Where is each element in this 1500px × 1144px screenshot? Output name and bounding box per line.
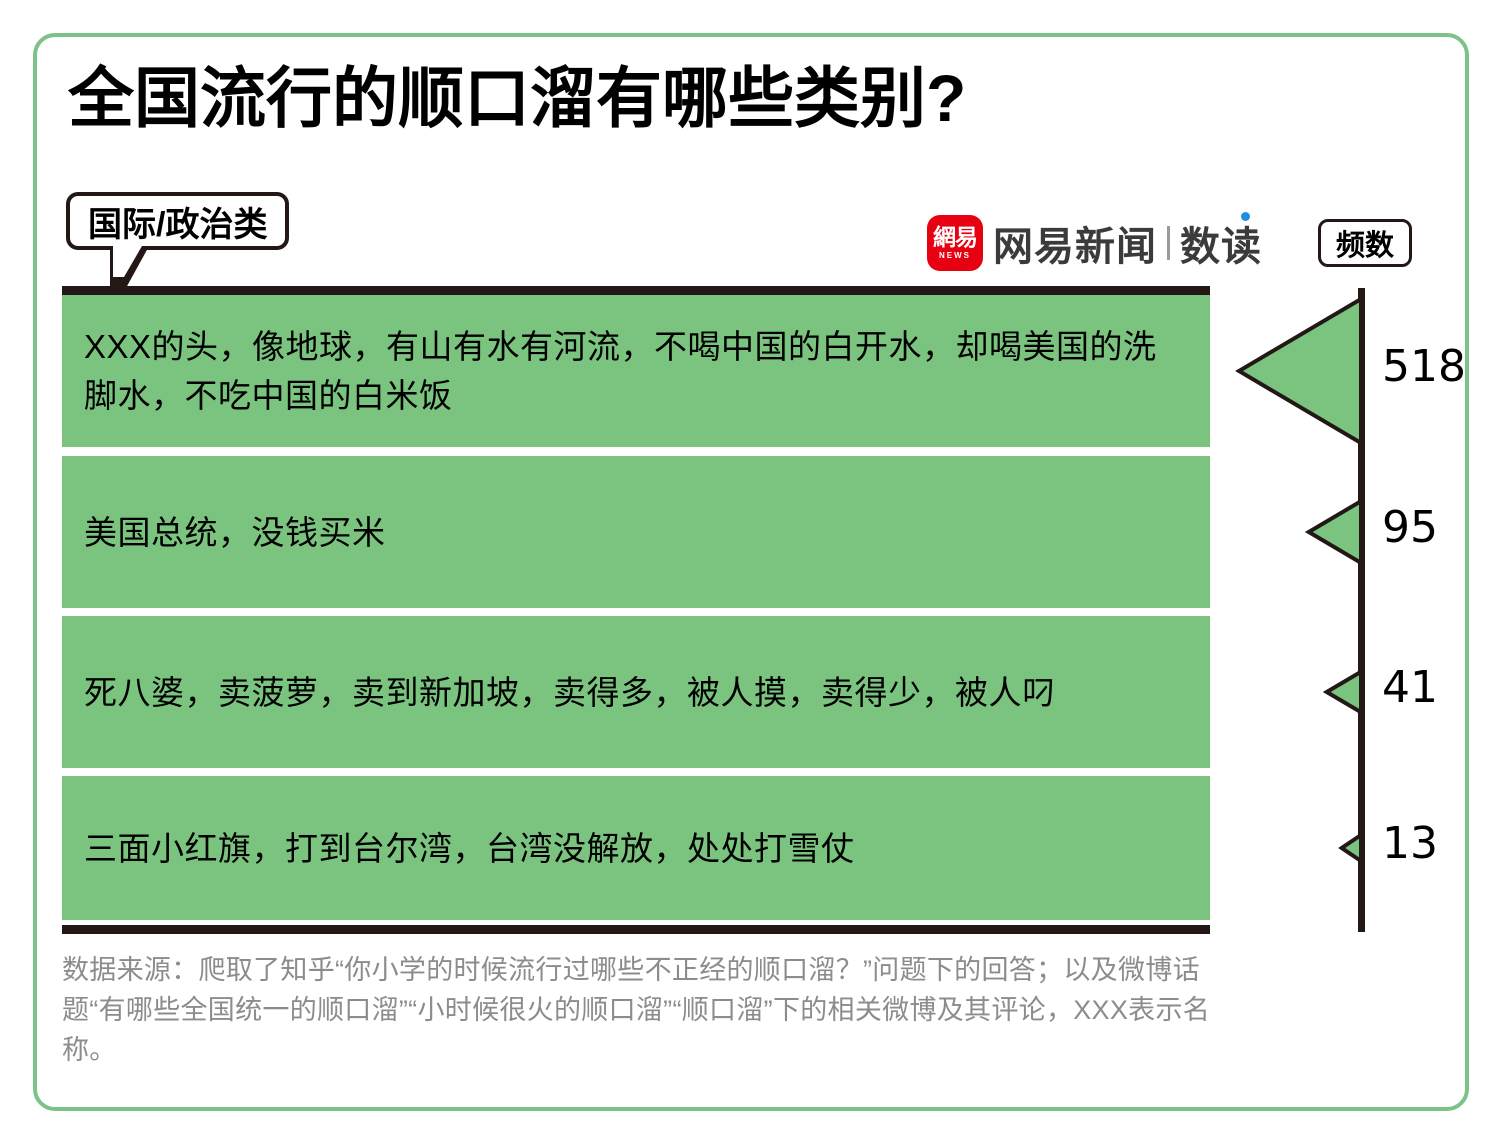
- bar-row: 三面小红旗，打到台尔湾，台湾没解放，处处打雪仗: [62, 776, 1210, 920]
- logo-subbrand: 数读: [1180, 225, 1262, 269]
- axis-label-box: 频数: [1318, 219, 1412, 267]
- category-badge-tail-fill: [113, 246, 142, 277]
- logo-mark-en: NEWS: [939, 250, 971, 261]
- chart-top-rule: [62, 286, 1210, 295]
- bar-row-label: XXX的头，像地球，有山有水有河流，不喝中国的白开水，却喝美国的洗脚水，不吃中国…: [62, 322, 1210, 420]
- page-title: 全国流行的顺口溜有哪些类别?: [68, 58, 966, 138]
- logo-blue-dot-icon: [1241, 212, 1250, 221]
- logo-mark-cn: 網易: [933, 225, 977, 250]
- value-label: 95: [1382, 502, 1438, 553]
- bar-row: XXX的头，像地球，有山有水有河流，不喝中国的白开水，却喝美国的洗脚水，不吃中国…: [62, 295, 1210, 447]
- vertical-axis-line: [1358, 288, 1365, 932]
- bar-row: 死八婆，卖菠萝，卖到新加坡，卖得多，被人摸，卖得少，被人叼: [62, 616, 1210, 768]
- bar-row: 美国总统，没钱买米: [62, 456, 1210, 608]
- bar-row-label: 死八婆，卖菠萝，卖到新加坡，卖得多，被人摸，卖得少，被人叼: [62, 668, 1210, 717]
- value-triangle-marker: [1239, 299, 1361, 443]
- bar-row-label: 三面小红旗，打到台尔湾，台湾没解放，处处打雪仗: [62, 824, 1210, 873]
- netease-logo-text: 网易新闻 数读: [993, 214, 1262, 272]
- value-triangle-marker: [1327, 672, 1361, 713]
- bar-row-label: 美国总统，没钱买米: [62, 508, 1210, 557]
- bar-chart: XXX的头，像地球，有山有水有河流，不喝中国的白开水，却喝美国的洗脚水，不吃中国…: [62, 286, 1442, 934]
- netease-logo-mark-icon: 網易 NEWS: [927, 215, 983, 271]
- value-triangle-marker: [1309, 501, 1361, 563]
- netease-logo: 網易 NEWS 网易新闻 数读: [927, 214, 1262, 272]
- logo-separator-icon: [1167, 226, 1170, 260]
- chart-bottom-rule: [62, 925, 1210, 934]
- value-label: 41: [1382, 662, 1438, 713]
- logo-brand: 网易新闻: [993, 214, 1157, 272]
- logo-subbrand-wrap: 数读: [1180, 214, 1262, 272]
- value-label: 518: [1382, 341, 1466, 392]
- source-footnote: 数据来源：爬取了知乎“你小学的时候流行过哪些不正经的顺口溜？”问题下的回答；以及…: [62, 950, 1237, 1070]
- value-label: 13: [1382, 818, 1438, 869]
- infographic-canvas: 全国流行的顺口溜有哪些类别? 国际/政治类 網易 NEWS 网易新闻 数读 频数…: [0, 0, 1500, 1144]
- category-badge: 国际/政治类: [66, 192, 289, 250]
